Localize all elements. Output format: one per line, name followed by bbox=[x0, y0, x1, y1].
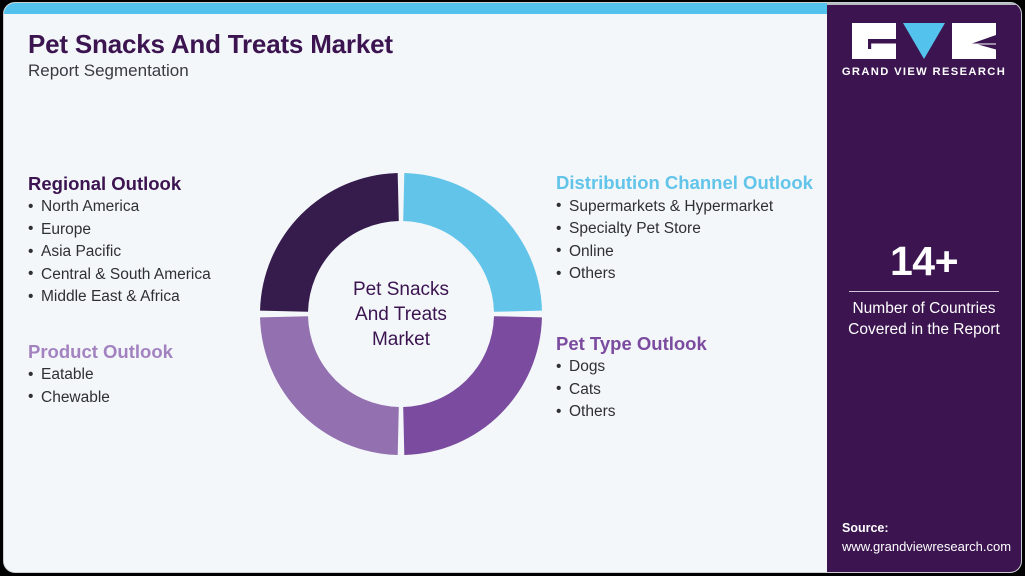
segment-heading-distribution: Distribution Channel Outlook bbox=[556, 173, 824, 194]
brand-logo: GRAND VIEW RESEARCH bbox=[827, 23, 1021, 78]
donut-chart-svg bbox=[260, 173, 542, 455]
infographic-root: Pet Snacks And Treats Market Report Segm… bbox=[0, 0, 1025, 576]
list-item: Europe bbox=[28, 219, 211, 242]
list-item: Dogs bbox=[556, 356, 707, 379]
segment-list-distribution: Supermarkets & Hypermarket Specialty Pet… bbox=[556, 196, 824, 286]
source-url[interactable]: www.grandviewresearch.com bbox=[842, 537, 1022, 556]
segment-heading-regional: Regional Outlook bbox=[28, 173, 211, 194]
stat-divider bbox=[849, 291, 999, 292]
list-item: Specialty Pet Store bbox=[556, 218, 824, 241]
list-item: Chewable bbox=[28, 387, 173, 410]
segment-block-distribution: Distribution Channel Outlook Supermarket… bbox=[556, 173, 824, 286]
stat-label-line-2: Covered in the Report bbox=[827, 319, 1021, 340]
top-accent-bar bbox=[4, 3, 829, 14]
stat-label: Number of Countries Covered in the Repor… bbox=[827, 298, 1021, 340]
logo-wordmark: GRAND VIEW RESEARCH bbox=[842, 66, 1006, 78]
list-item: Others bbox=[556, 263, 824, 286]
main-panel: Pet Snacks And Treats Market Report Segm… bbox=[4, 3, 829, 572]
segment-block-regional: Regional Outlook North America Europe As… bbox=[28, 173, 211, 309]
source-block: Source: www.grandviewresearch.com bbox=[842, 519, 1022, 556]
segment-heading-pet-type: Pet Type Outlook bbox=[556, 333, 707, 354]
donut-segment-pet-type bbox=[403, 316, 542, 455]
logo-g-icon bbox=[852, 23, 896, 59]
segment-list-regional: North America Europe Asia Pacific Centra… bbox=[28, 196, 211, 309]
donut-chart: Pet Snacks And Treats Market bbox=[260, 173, 542, 455]
segment-block-product: Product Outlook Eatable Chewable bbox=[28, 341, 173, 409]
list-item: Supermarkets & Hypermarket bbox=[556, 196, 824, 219]
list-item: Cats bbox=[556, 379, 707, 402]
list-item: Middle East & Africa bbox=[28, 286, 211, 309]
country-count-stat: 14+ Number of Countries Covered in the R… bbox=[827, 239, 1021, 340]
stat-label-line-1: Number of Countries bbox=[827, 298, 1021, 319]
segment-heading-product: Product Outlook bbox=[28, 341, 173, 362]
donut-segment-regional bbox=[260, 173, 399, 312]
segment-block-pet-type: Pet Type Outlook Dogs Cats Others bbox=[556, 333, 707, 424]
segment-list-product: Eatable Chewable bbox=[28, 364, 173, 409]
stat-number: 14+ bbox=[827, 239, 1021, 283]
report-card: Pet Snacks And Treats Market Report Segm… bbox=[3, 2, 1022, 573]
list-item: North America bbox=[28, 196, 211, 219]
segment-list-pet-type: Dogs Cats Others bbox=[556, 356, 707, 424]
list-item: Online bbox=[556, 241, 824, 264]
page-subtitle: Report Segmentation bbox=[28, 61, 189, 81]
donut-segment-product bbox=[260, 316, 399, 455]
source-title: Source: bbox=[842, 519, 1022, 537]
list-item: Others bbox=[556, 401, 707, 424]
list-item: Central & South America bbox=[28, 264, 211, 287]
logo-v-triangle-icon bbox=[903, 23, 945, 59]
logo-r-icon bbox=[952, 23, 996, 59]
list-item: Eatable bbox=[28, 364, 173, 387]
sidebar: GRAND VIEW RESEARCH 14+ Number of Countr… bbox=[827, 3, 1021, 573]
page-title: Pet Snacks And Treats Market bbox=[28, 29, 393, 60]
logo-marks bbox=[852, 23, 996, 59]
donut-segment-distribution bbox=[403, 173, 542, 312]
list-item: Asia Pacific bbox=[28, 241, 211, 264]
